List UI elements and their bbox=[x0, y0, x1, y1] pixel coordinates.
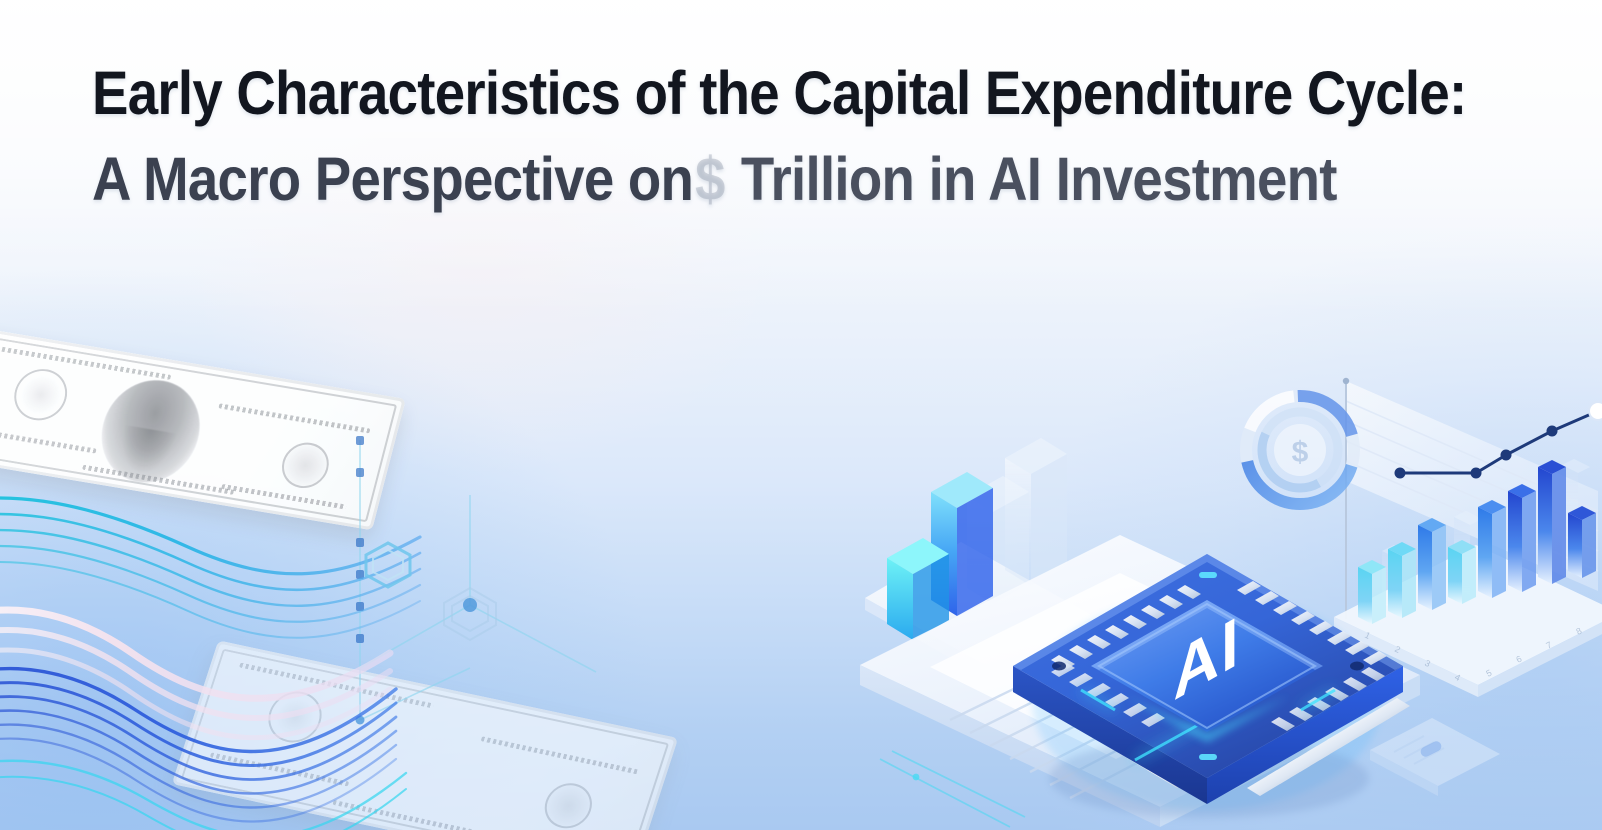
flowing-data-waves bbox=[0, 455, 480, 830]
donut-center-symbol: $ bbox=[1292, 436, 1309, 469]
ai-chip: AI bbox=[985, 520, 1425, 830]
banner-canvas: AI $ bbox=[0, 0, 1602, 830]
donut-gauge-chart: $ bbox=[1232, 382, 1368, 518]
page-title-line-2: A Macro Perspective on$ Trillion in AI I… bbox=[92, 136, 1381, 222]
currency-symbol-glyph: $ bbox=[693, 145, 726, 213]
page-title-line-2-prefix: A Macro Perspective on bbox=[92, 145, 693, 213]
page-title-line-2-suffix: Trillion in AI Investment bbox=[741, 145, 1337, 213]
page-title-line-1: Early Characteristics of the Capital Exp… bbox=[92, 50, 1381, 136]
banner-title: Early Characteristics of the Capital Exp… bbox=[92, 50, 1532, 222]
